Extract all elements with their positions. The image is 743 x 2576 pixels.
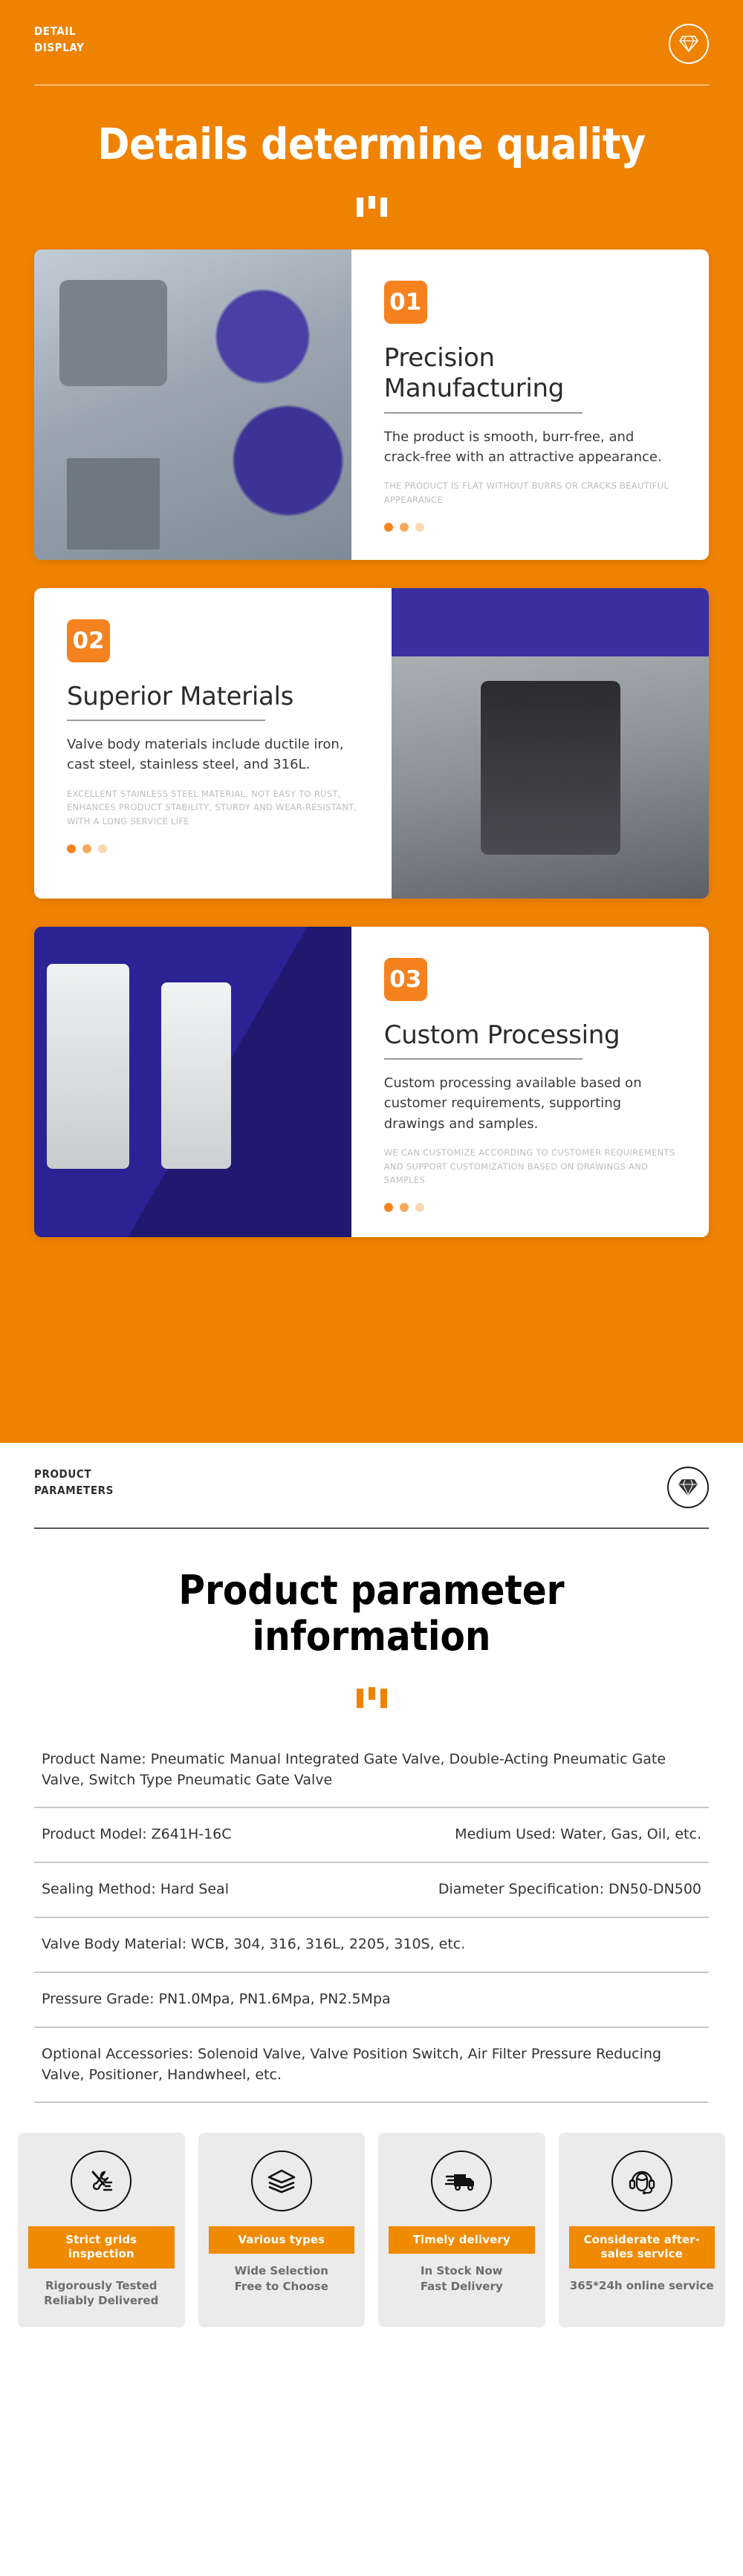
feature-card-subtext: WE CAN CUSTOMIZE ACCORDING TO CUSTOMER R…	[384, 1146, 676, 1187]
detail-eyebrow: DETAIL DISPLAY	[34, 24, 84, 56]
feature-card: 03 Custom Processing Custom processing a…	[34, 927, 709, 1237]
service-caption: In Stock Now Fast Delivery	[421, 2263, 503, 2294]
feature-card-subtext: EXCELLENT STAINLESS STEEL MATERIAL, NOT …	[67, 787, 359, 828]
table-row: Optional Accessories: Solenoid Valve, Va…	[34, 2028, 709, 2103]
service-card-types: Various types Wide Selection Free to Cho…	[198, 2133, 366, 2327]
delivery-truck-icon	[431, 2151, 492, 2211]
spec-cell: Sealing Method: Hard Seal	[42, 1879, 371, 1900]
parameters-title: Product parameter information	[34, 1568, 709, 1659]
diamond-icon	[667, 1467, 709, 1508]
detail-display-section: DETAIL DISPLAY Details determine quality…	[0, 0, 743, 1443]
parameters-section-header: PRODUCT PARAMETERS	[34, 1443, 709, 1508]
feature-card-dots	[67, 844, 359, 853]
service-card-inspection: Strict grids inspection Rigorously Teste…	[18, 2133, 185, 2327]
feature-card-title-rule	[67, 720, 265, 721]
service-banner-label: Various types	[209, 2226, 355, 2254]
service-caption-line1: In Stock Now	[421, 2264, 503, 2277]
service-banner-label: Considerate after-sales service	[569, 2226, 716, 2268]
feature-card-number: 01	[384, 281, 427, 324]
table-row: Pressure Grade: PN1.0Mpa, PN1.6Mpa, PN2.…	[34, 1973, 709, 2028]
parameters-eyebrow-line2: PARAMETERS	[34, 1483, 114, 1499]
service-card-delivery: Timely delivery In Stock Now Fast Delive…	[378, 2133, 545, 2327]
service-caption: Wide Selection Free to Choose	[235, 2263, 328, 2294]
feature-card-title-rule	[384, 1058, 583, 1060]
title-ornament	[34, 196, 709, 217]
service-caption-line1: Rigorously Tested	[45, 2279, 158, 2292]
wrench-screwdriver-icon	[71, 2151, 132, 2211]
feature-card-photo	[392, 588, 709, 899]
service-highlights: Strict grids inspection Rigorously Teste…	[0, 2103, 743, 2350]
parameters-eyebrow-line1: PRODUCT	[34, 1467, 114, 1483]
feature-card-body: 02 Superior Materials Valve body materia…	[34, 588, 392, 899]
feature-card-title: Superior Materials	[67, 682, 359, 712]
parameters-title-line2: information	[253, 1613, 491, 1660]
feature-card-body: 01 Precision Manufacturing The product i…	[351, 250, 709, 560]
parameters-title-line1: Product parameter	[178, 1567, 564, 1614]
feature-card-dots	[384, 1203, 676, 1212]
headset-support-icon	[611, 2151, 672, 2211]
diamond-icon	[669, 24, 709, 64]
page-title: Details determine quality	[34, 121, 709, 168]
service-banner-label: Timely delivery	[389, 2226, 535, 2254]
feature-card-description: Valve body materials include ductile iro…	[67, 734, 359, 775]
service-caption-line2: Fast Delivery	[421, 2280, 503, 2293]
table-row: Valve Body Material: WCB, 304, 316, 316L…	[34, 1918, 709, 1973]
feature-card-photo	[34, 250, 351, 560]
feature-card-title-rule	[384, 412, 583, 414]
parameters-eyebrow: PRODUCT PARAMETERS	[34, 1467, 114, 1499]
spec-cell: Medium Used: Water, Gas, Oil, etc.	[371, 1825, 701, 1845]
parameters-header-divider	[34, 1527, 709, 1529]
spec-cell: Optional Accessories: Solenoid Valve, Va…	[42, 2044, 701, 2085]
table-row: Product Name: Pneumatic Manual Integrate…	[34, 1733, 709, 1808]
table-row: Product Model: Z641H-16C Medium Used: Wa…	[34, 1808, 709, 1863]
specifications-table: Product Name: Pneumatic Manual Integrate…	[34, 1733, 709, 2103]
service-banner-label: Strict grids inspection	[28, 2226, 175, 2268]
detail-eyebrow-line1: DETAIL	[34, 24, 84, 40]
feature-card-dots	[384, 523, 676, 532]
feature-card: 02 Superior Materials Valve body materia…	[34, 588, 709, 899]
detail-header-divider	[34, 85, 709, 85]
feature-card-title: Custom Processing	[384, 1020, 676, 1051]
spec-cell: Valve Body Material: WCB, 304, 316, 316L…	[42, 1934, 701, 1955]
feature-card-body: 03 Custom Processing Custom processing a…	[351, 927, 709, 1237]
service-caption-line2: Reliably Delivered	[44, 2294, 158, 2307]
feature-card: 01 Precision Manufacturing The product i…	[34, 250, 709, 560]
detail-eyebrow-line2: DISPLAY	[34, 40, 84, 56]
spec-cell: Pressure Grade: PN1.0Mpa, PN1.6Mpa, PN2.…	[42, 1989, 701, 2010]
spec-cell: Product Name: Pneumatic Manual Integrate…	[42, 1750, 701, 1790]
table-row: Sealing Method: Hard Seal Diameter Speci…	[34, 1863, 709, 1918]
service-caption: Rigorously Tested Reliably Delivered	[44, 2278, 158, 2309]
feature-card-description: Custom processing available based on cus…	[384, 1073, 676, 1134]
feature-card-number: 02	[67, 619, 110, 662]
service-caption-line1: Wide Selection	[235, 2264, 328, 2277]
feature-card-subtext: THE PRODUCT IS FLAT WITHOUT BURRS OR CRA…	[384, 479, 676, 506]
service-caption: 365*24h online service	[570, 2278, 714, 2293]
feature-card-title: Precision Manufacturing	[384, 343, 676, 405]
product-parameters-section: PRODUCT PARAMETERS Product parameter inf…	[0, 1443, 743, 2103]
parameters-title-ornament	[34, 1687, 709, 1708]
service-caption-line2: Free to Choose	[235, 2280, 328, 2293]
spec-cell: Product Model: Z641H-16C	[42, 1825, 371, 1845]
detail-section-header: DETAIL DISPLAY	[34, 0, 709, 64]
feature-card-list: 01 Precision Manufacturing The product i…	[34, 250, 709, 1237]
spec-cell: Diameter Specification: DN50-DN500	[371, 1879, 701, 1900]
service-caption-line1: 365*24h online service	[570, 2279, 714, 2292]
feature-card-description: The product is smooth, burr-free, and cr…	[384, 427, 676, 468]
service-card-after-sales: Considerate after-sales service 365*24h …	[559, 2133, 726, 2327]
layers-icon	[251, 2151, 312, 2211]
feature-card-number: 03	[384, 958, 427, 1001]
feature-card-photo	[34, 927, 351, 1237]
